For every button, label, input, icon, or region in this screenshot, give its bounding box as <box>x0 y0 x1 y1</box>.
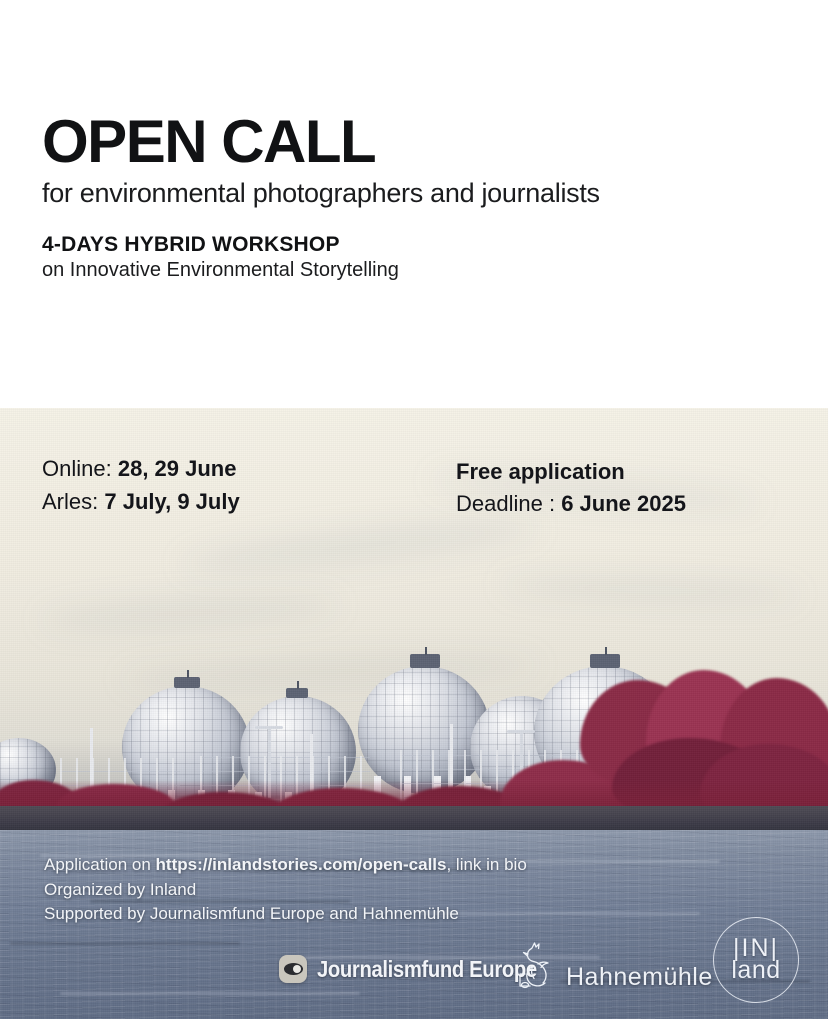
hahnemuhle-logo[interactable]: Hahnemühle <box>512 938 713 999</box>
wave <box>60 992 360 995</box>
tank-cap <box>174 677 200 688</box>
tank-cap <box>410 654 440 668</box>
wave <box>520 860 720 863</box>
tank-cap <box>286 688 308 698</box>
journalismfund-label: Journalismfund Europe <box>317 956 537 983</box>
supported-by: Supported by Journalismfund Europe and H… <box>44 902 527 927</box>
tank-cap <box>590 654 620 668</box>
application-block: Free application Deadline : 6 June 2025 <box>456 456 686 520</box>
page-title: OPEN CALL <box>42 112 375 172</box>
online-dates-row: Online: 28, 29 June <box>42 452 240 485</box>
deadline-row: Deadline : 6 June 2025 <box>456 488 686 520</box>
poster-header: OPEN CALL for environmental photographer… <box>0 0 828 408</box>
free-application-label: Free application <box>456 456 686 488</box>
dates-block: Online: 28, 29 June Arles: 7 July, 9 Jul… <box>42 452 240 518</box>
wave <box>10 942 240 945</box>
workshop-title: 4-DAYS HYBRID WORKSHOP <box>42 233 340 257</box>
arles-dates-row: Arles: 7 July, 9 July <box>42 485 240 518</box>
organized-by: Organized by Inland <box>44 878 527 903</box>
credits-block: Application on https://inlandstories.com… <box>44 853 527 927</box>
arles-label: Arles: <box>42 489 98 514</box>
online-label: Online: <box>42 456 112 481</box>
application-url[interactable]: https://inlandstories.com/open-calls <box>156 855 447 874</box>
hahnemuhle-label: Hahnemühle <box>566 945 713 992</box>
workshop-subtitle: on Innovative Environmental Storytelling <box>42 259 399 282</box>
deadline-value: 6 June 2025 <box>561 491 686 516</box>
application-suffix: , link in bio <box>446 855 526 874</box>
application-prefix: Application on <box>44 855 156 874</box>
application-link-row: Application on https://inlandstories.com… <box>44 853 527 878</box>
hero-photograph: Online: 28, 29 June Arles: 7 July, 9 Jul… <box>0 408 828 1019</box>
inland-logo-bottom: land <box>731 958 780 983</box>
page-subtitle: for environmental photographers and jour… <box>42 178 600 209</box>
inland-logo[interactable]: |IN| land <box>713 917 799 1003</box>
eye-lens-icon <box>279 955 307 983</box>
online-value: 28, 29 June <box>118 456 237 481</box>
rooster-icon <box>512 938 558 999</box>
arles-value: 7 July, 9 July <box>104 489 239 514</box>
deadline-label: Deadline : <box>456 491 555 516</box>
